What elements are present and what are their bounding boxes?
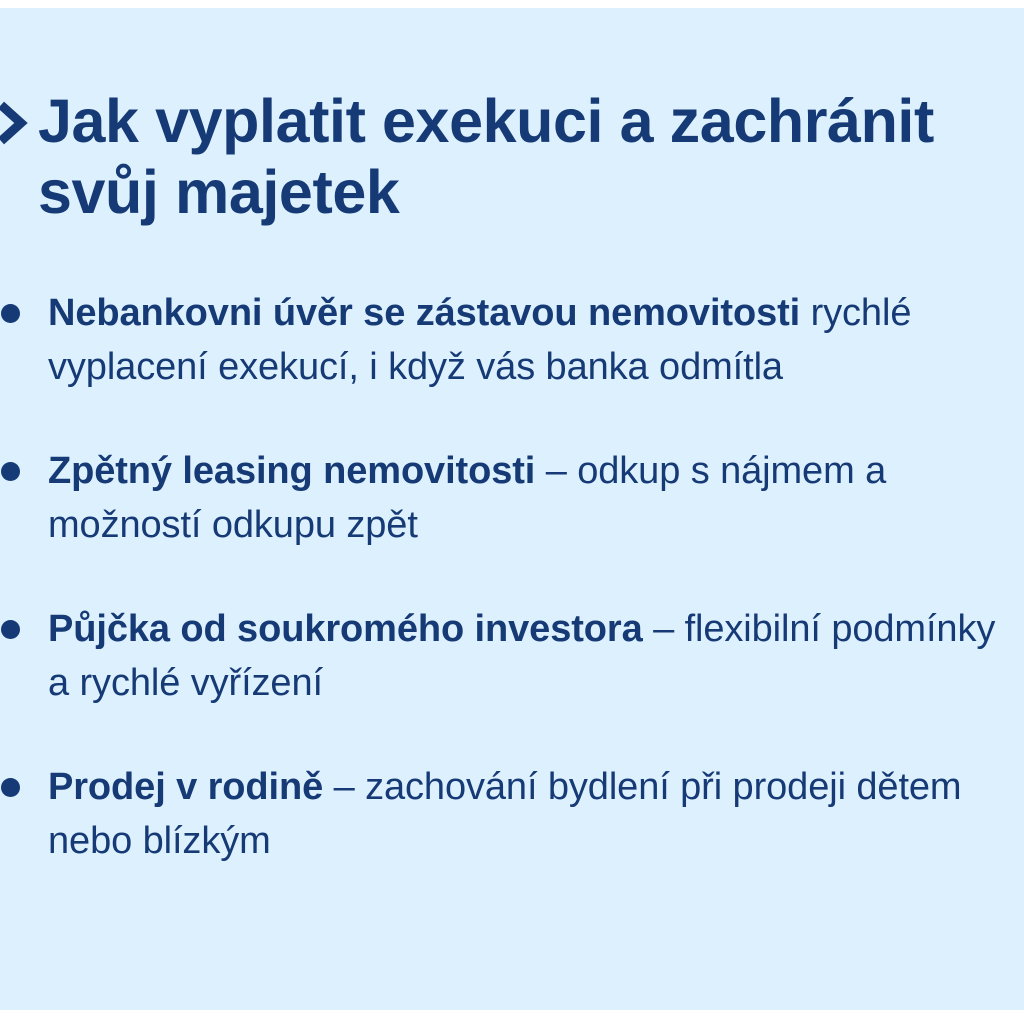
- list-item: Prodej v rodině – zachování bydlení při …: [0, 761, 1024, 869]
- list-item: Nebankovni úvěr se zástavou nemovitosti …: [0, 287, 1024, 395]
- title-block: Jak vyplatit exekuci a zachránit svůj ma…: [0, 86, 1024, 228]
- list-item-lead: Zpětný leasing nemovitosti: [48, 450, 535, 492]
- list-item-text: Půjčka od soukromého investora – flexibi…: [48, 603, 1024, 711]
- bullet-dot-icon: [1, 778, 20, 797]
- bullet-dot-icon: [1, 620, 20, 639]
- list-item: Zpětný leasing nemovitosti – odkup s náj…: [0, 445, 1024, 553]
- list-item-text: Nebankovni úvěr se zástavou nemovitosti …: [48, 287, 1024, 395]
- chevron-right-icon: [0, 86, 38, 146]
- bullet-dot-icon: [1, 462, 20, 481]
- list-item-lead: Prodej v rodině: [48, 766, 323, 808]
- list-item-text: Zpětný leasing nemovitosti – odkup s náj…: [48, 445, 1024, 553]
- list-item-lead: Půjčka od soukromého investora: [48, 608, 643, 650]
- list-item: Půjčka od soukromého investora – flexibi…: [0, 603, 1024, 711]
- bullet-dot-icon: [1, 304, 20, 323]
- page-title: Jak vyplatit exekuci a zachránit svůj ma…: [38, 86, 1024, 228]
- list-item-lead: Nebankovni úvěr se zástavou nemovitosti: [48, 292, 800, 334]
- list-item-text: Prodej v rodině – zachování bydlení při …: [48, 761, 1024, 869]
- slide-canvas: Jak vyplatit exekuci a zachránit svůj ma…: [0, 8, 1024, 1010]
- benefits-list: Nebankovni úvěr se zástavou nemovitosti …: [0, 287, 1024, 869]
